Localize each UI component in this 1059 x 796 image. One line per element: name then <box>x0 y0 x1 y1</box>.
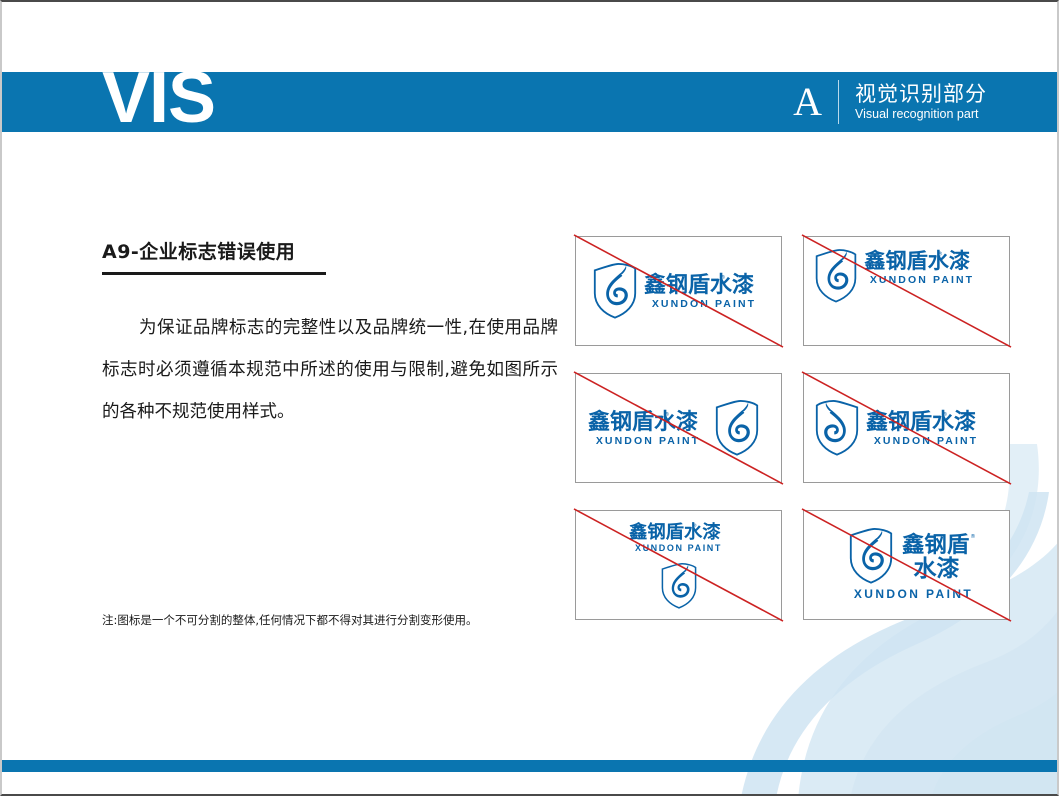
shield-flame-emblem <box>814 400 860 456</box>
svg-text:®: ® <box>720 274 726 281</box>
header-section-labels: 视觉识别部分 Visual recognition part <box>839 82 987 121</box>
vis-wordmark: VIS <box>102 68 215 128</box>
english-wordmark: XUNDON PAINT <box>870 275 974 287</box>
sample-2-text-top-aligned: 鑫钢盾水漆 ® XUNDON PAINT <box>803 236 1010 346</box>
logo-lockup: 鑫钢盾水漆 ® XUNDON PAINT <box>804 374 1009 482</box>
logo-lockup: 鑫钢盾水漆 ® XUNDON PAINT <box>576 511 781 619</box>
wordmark: 鑫钢盾水漆 ® XUNDON PAINT <box>644 272 764 311</box>
section-title-cn: 视觉识别部分 <box>855 82 987 106</box>
shield-flame-emblem <box>848 528 894 584</box>
vis-manual-page: VIS A 视觉识别部分 Visual recognition part A9-… <box>0 0 1059 796</box>
page-title: A9-企业标志错误使用 <box>102 237 295 264</box>
english-wordmark: XUNDON PAINT <box>652 299 756 311</box>
sample-4-mirrored-emblem: 鑫钢盾水漆 ® XUNDON PAINT <box>803 373 1010 483</box>
grid-row: 鑫钢盾水漆 ® XUNDON PAINT <box>575 236 1012 346</box>
chinese-wordmark: 鑫钢盾水漆 ® <box>588 409 708 435</box>
svg-text:®: ® <box>937 251 942 258</box>
wordmark: 鑫钢盾水漆 ® XUNDON PAINT <box>629 521 729 554</box>
sample-5-text-above-emblem-below: 鑫钢盾水漆 ® XUNDON PAINT <box>575 510 782 620</box>
footer-band <box>2 760 1057 772</box>
footnote: 注:图标是一个不可分割的整体,任何情况下都不得对其进行分割变形使用。 <box>102 612 582 628</box>
chinese-wordmark: 鑫钢盾水漆 ® <box>629 521 729 543</box>
chinese-wordmark: 鑫钢盾水漆 ® <box>866 409 986 435</box>
logo-lockup: 鑫钢盾水漆 ® XUNDON PAINT <box>576 374 781 482</box>
grid-row: 鑫钢盾水漆 ® XUNDON PAINT <box>575 510 1012 620</box>
wordmark: 鑫钢盾水漆 ® XUNDON PAINT <box>864 249 980 287</box>
shield-flame-emblem <box>814 249 858 303</box>
page-header-band: VIS A 视觉识别部分 Visual recognition part <box>2 72 1057 132</box>
english-wordmark: XUNDON PAINT <box>596 436 700 448</box>
wordmark: 鑫钢盾 ® 水漆 <box>902 531 980 581</box>
sample-6-chinese-split-two-lines: 鑫钢盾 ® 水漆 XUNDON PAINT <box>803 510 1010 620</box>
svg-text:®: ® <box>970 534 975 541</box>
svg-text:鑫钢盾水漆: 鑫钢盾水漆 <box>588 409 698 435</box>
title-underline <box>102 272 326 275</box>
svg-text:鑫钢盾水漆: 鑫钢盾水漆 <box>864 249 970 273</box>
body-paragraph: 为保证品牌标志的完整性以及品牌统一性,在使用品牌标志时必须遵循本规范中所述的使用… <box>102 307 558 433</box>
svg-text:水漆: 水漆 <box>913 556 959 581</box>
svg-text:®: ® <box>664 411 670 418</box>
shield-flame-emblem <box>714 400 760 456</box>
header-section-marker: A 视觉识别部分 Visual recognition part <box>793 72 987 132</box>
svg-text:鑫钢盾水漆: 鑫钢盾水漆 <box>866 409 976 435</box>
svg-text:鑫钢盾水漆: 鑫钢盾水漆 <box>644 272 754 298</box>
page-content: A9-企业标志错误使用 为保证品牌标志的完整性以及品牌统一性,在使用品牌标志时必… <box>2 132 1057 794</box>
chinese-wordmark: 鑫钢盾水漆 ® <box>644 272 764 298</box>
svg-text:®: ® <box>942 411 948 418</box>
sample-3-text-left-emblem-right: 鑫钢盾水漆 ® XUNDON PAINT <box>575 373 782 483</box>
section-title-en: Visual recognition part <box>855 107 987 122</box>
sample-1-emblem-left-text-right: 鑫钢盾水漆 ® XUNDON PAINT <box>575 236 782 346</box>
wordmark: 鑫钢盾水漆 ® XUNDON PAINT <box>588 409 708 448</box>
logo-lockup: 鑫钢盾水漆 ® XUNDON PAINT <box>804 237 1009 345</box>
english-wordmark: XUNDON PAINT <box>635 544 722 554</box>
logo-lockup: 鑫钢盾水漆 ® XUNDON PAINT <box>576 237 781 345</box>
shield-flame-emblem <box>660 563 698 609</box>
english-wordmark: XUNDON PAINT <box>854 588 973 601</box>
grid-row: 鑫钢盾水漆 ® XUNDON PAINT <box>575 373 1012 483</box>
svg-text:鑫钢盾水漆: 鑫钢盾水漆 <box>629 521 721 543</box>
english-wordmark: XUNDON PAINT <box>874 436 978 448</box>
logo-lockup: 鑫钢盾 ® 水漆 XUNDON PAINT <box>804 511 1009 619</box>
chinese-wordmark: 鑫钢盾水漆 ® <box>864 249 980 274</box>
svg-text:鑫钢盾: 鑫钢盾 <box>902 531 969 557</box>
chinese-wordmark-line2: 水漆 <box>913 555 969 581</box>
wordmark: 鑫钢盾水漆 ® XUNDON PAINT <box>866 409 986 448</box>
section-letter: A <box>793 82 838 122</box>
shield-flame-emblem <box>592 263 638 319</box>
chinese-wordmark-line1: 鑫钢盾 ® <box>902 531 980 557</box>
incorrect-usage-grid: 鑫钢盾水漆 ® XUNDON PAINT <box>575 236 1012 647</box>
